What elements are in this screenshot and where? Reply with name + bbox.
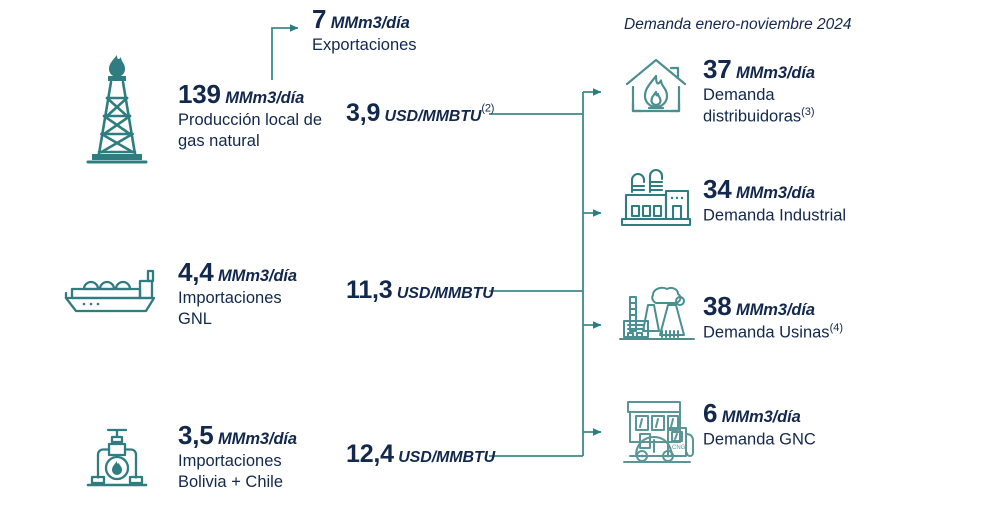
production-value: 139	[178, 79, 221, 109]
lng-value: 4,4	[178, 257, 214, 287]
demand-period-title: Demanda enero-noviembre 2024	[624, 16, 851, 34]
price-block-lng: 11,3 USD/MMBTU	[346, 277, 494, 303]
demand-block-usinas: 38 MMm3/día Demanda Usinas(4)	[703, 293, 843, 343]
industrial-value: 34	[703, 174, 732, 204]
industrial-label: Demanda Industrial	[703, 207, 846, 225]
usinas-value: 38	[703, 291, 732, 321]
price-bolivia-chile-unit: USD/MMBTU	[398, 449, 495, 466]
bolivia-chile-unit: MMm3/día	[218, 430, 297, 448]
gnc-label-wrap: Demanda GNC	[703, 429, 816, 450]
gnc-label: Demanda GNC	[703, 431, 816, 449]
price-production-unit: USD/MMBTU	[385, 108, 482, 125]
price-bolivia-chile-value: 12,4	[346, 440, 394, 468]
usinas-footnote: (4)	[830, 322, 843, 334]
exports-label: Exportaciones	[312, 35, 417, 56]
supply-block-production: 139 MMm3/día Producción local de gas nat…	[178, 81, 322, 152]
exports-block: 7 MMm3/día Exportaciones	[312, 6, 417, 56]
gas-rig-icon	[84, 50, 150, 168]
gnc-value-row: 6 MMm3/día	[703, 400, 816, 427]
demand-block-distribuidoras: 37 MMm3/día Demanda distribuidoras(3)	[703, 56, 815, 127]
gnc-unit: MMm3/día	[722, 408, 801, 426]
industrial-label-wrap: Demanda Industrial	[703, 205, 846, 226]
price-lng-value: 11,3	[346, 276, 392, 304]
bolivia-chile-label: Importaciones Bolivia + Chile	[178, 451, 297, 492]
price-lng-row: 11,3 USD/MMBTU	[346, 277, 494, 303]
price-block-bolivia-chile: 12,4 USD/MMBTU	[346, 441, 495, 467]
industrial-unit: MMm3/día	[736, 184, 815, 202]
distribuidoras-footnote: (3)	[801, 106, 814, 118]
exports-unit: MMm3/día	[331, 14, 410, 32]
demand-block-gnc: 6 MMm3/día Demanda GNC	[703, 400, 816, 450]
supply-block-lng: 4,4 MMm3/día Importaciones GNL	[178, 259, 297, 330]
price-production-row: 3,9 USD/MMBTU(2)	[346, 100, 494, 126]
production-unit: MMm3/día	[225, 89, 304, 107]
gnc-value: 6	[703, 398, 717, 428]
lng-label: Importaciones GNL	[178, 288, 297, 329]
cng-station-icon: CNG	[620, 392, 700, 466]
gas-flow-infographic: Demanda enero-noviembre 2024 7 MMm3/día …	[0, 0, 1000, 516]
exports-value: 7	[312, 4, 326, 34]
production-value-row: 139 MMm3/día	[178, 81, 322, 108]
distribuidoras-label-wrap: Demanda distribuidoras(3)	[703, 85, 815, 127]
industrial-value-row: 34 MMm3/día	[703, 176, 846, 203]
lng-unit: MMm3/día	[218, 267, 297, 285]
distribuidoras-value: 37	[703, 54, 732, 84]
lng-tanker-ship-icon	[62, 265, 162, 317]
usinas-label-wrap: Demanda Usinas(4)	[703, 322, 843, 343]
usinas-unit: MMm3/día	[736, 301, 815, 319]
production-label: Producción local de gas natural	[178, 110, 322, 151]
demand-block-industrial: 34 MMm3/día Demanda Industrial	[703, 176, 846, 226]
exports-value-row: 7 MMm3/día	[312, 6, 417, 33]
price-production-footnote: (2)	[481, 103, 494, 115]
price-bolivia-chile-row: 12,4 USD/MMBTU	[346, 441, 495, 467]
power-plant-icon	[618, 281, 698, 349]
price-block-production: 3,9 USD/MMBTU(2)	[346, 100, 494, 126]
export-flow-line	[272, 28, 298, 80]
price-lng-unit: USD/MMBTU	[397, 285, 494, 302]
lng-value-row: 4,4 MMm3/día	[178, 259, 297, 286]
bolivia-chile-value: 3,5	[178, 420, 214, 450]
price-production-value: 3,9	[346, 99, 380, 127]
usinas-label: Demanda Usinas	[703, 324, 830, 342]
supply-block-bolivia-chile: 3,5 MMm3/día Importaciones Bolivia + Chi…	[178, 422, 297, 493]
house-flame-icon	[623, 56, 689, 118]
factory-icon	[618, 168, 694, 230]
svg-text:CNG: CNG	[672, 445, 686, 451]
distribuidoras-unit: MMm3/día	[736, 64, 815, 82]
usinas-value-row: 38 MMm3/día	[703, 293, 843, 320]
pipeline-valve-icon	[82, 424, 152, 490]
distribuidoras-label: Demanda distribuidoras	[703, 86, 801, 125]
distribuidoras-value-row: 37 MMm3/día	[703, 56, 815, 83]
bolivia-chile-value-row: 3,5 MMm3/día	[178, 422, 297, 449]
